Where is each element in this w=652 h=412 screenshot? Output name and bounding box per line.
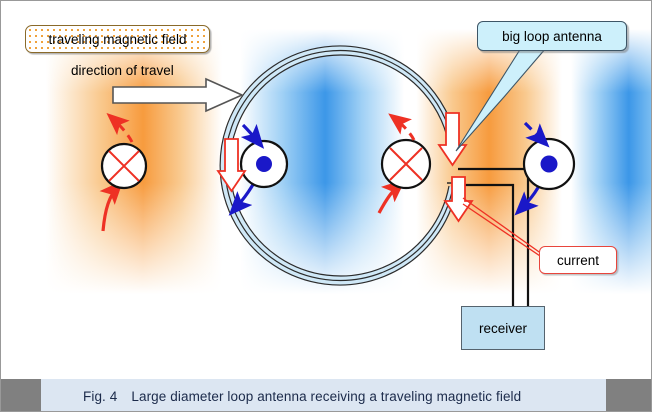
overlay-graphics: [1, 1, 652, 412]
figure-canvas: traveling magnetic field direction of tr…: [0, 0, 652, 412]
current-callout: current: [539, 246, 617, 274]
receiver-box: receiver: [461, 306, 545, 350]
current-text: current: [557, 253, 599, 268]
block-arrow-right-icon: [113, 79, 242, 111]
big-loop-antenna-text: big loop antenna: [502, 29, 602, 44]
receiver-label: receiver: [479, 321, 527, 336]
big-loop-antenna-callout: big loop antenna: [477, 21, 627, 51]
